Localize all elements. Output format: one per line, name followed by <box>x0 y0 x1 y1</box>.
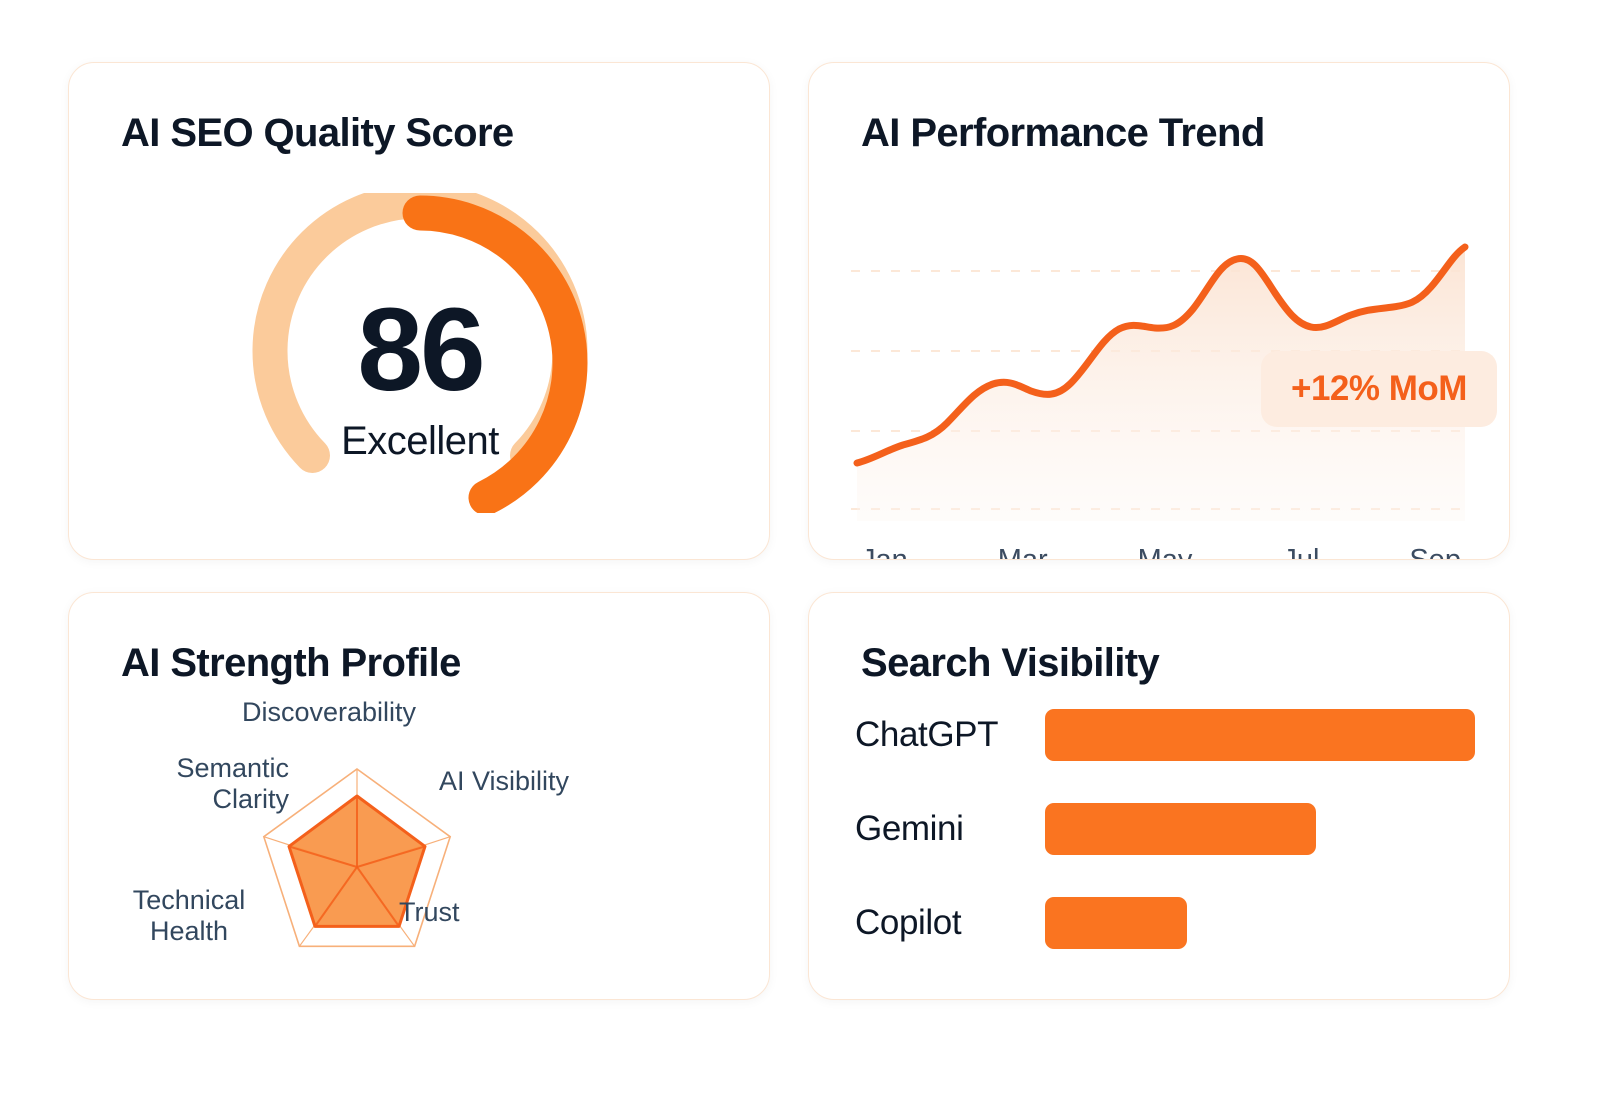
gauge-rating-label: Excellent <box>69 419 770 464</box>
x-tick-label-1: Mar <box>998 544 1048 561</box>
radar-label-technical-health: Technical Health <box>89 885 289 948</box>
card-ai-performance-trend: AI Performance Trend <box>808 62 1510 560</box>
bar-chart: ChatGPT Gemini Copilot <box>855 709 1475 991</box>
card-ai-seo-quality-score: AI SEO Quality Score 86 Excellent <box>68 62 770 560</box>
card-ai-strength-profile: AI Strength Profile <box>68 592 770 1000</box>
page-title-quality: AI SEO Quality Score <box>121 111 514 156</box>
bar-fill-chatgpt <box>1045 709 1475 761</box>
bar-label-copilot: Copilot <box>855 903 1045 943</box>
x-tick-label-2: May <box>1138 544 1193 561</box>
radar-label-discoverability: Discoverability <box>179 697 479 728</box>
bar-row-chatgpt: ChatGPT <box>855 709 1475 761</box>
bar-label-chatgpt: ChatGPT <box>855 715 1045 755</box>
x-tick-label-0: Jan <box>861 544 908 561</box>
status-badge-mom: +12% MoM <box>1261 351 1497 427</box>
bar-track-chatgpt <box>1045 709 1475 761</box>
bar-track-gemini <box>1045 803 1475 855</box>
bar-fill-copilot <box>1045 897 1187 949</box>
bar-track-copilot <box>1045 897 1475 949</box>
gauge-score-value: 86 <box>69 291 770 409</box>
radar-label-semantic-clarity: Semantic Clarity <box>79 753 289 816</box>
chart-x-axis: Jan Mar May Jul Sep <box>851 535 1471 560</box>
page-title-trend: AI Performance Trend <box>861 111 1265 156</box>
dashboard-grid: AI SEO Quality Score 86 Excellent AI Per… <box>68 62 1510 1000</box>
x-tick-label-4: Sep <box>1409 544 1461 561</box>
bar-label-gemini: Gemini <box>855 809 1045 849</box>
bar-row-copilot: Copilot <box>855 897 1475 949</box>
radar-label-trust: Trust <box>399 897 579 928</box>
card-search-visibility: Search Visibility ChatGPT Gemini Copilot <box>808 592 1510 1000</box>
gauge-chart: 86 Excellent <box>69 193 770 533</box>
bar-fill-gemini <box>1045 803 1316 855</box>
dashboard-root: AI SEO Quality Score 86 Excellent AI Per… <box>0 0 1616 1104</box>
x-tick-label-3: Jul <box>1282 544 1319 561</box>
radar-chart: Discoverability AI Visibility Trust Tech… <box>69 667 770 1000</box>
page-title-visibility: Search Visibility <box>861 641 1159 686</box>
bar-row-gemini: Gemini <box>855 803 1475 855</box>
radar-label-ai-visibility: AI Visibility <box>439 766 689 797</box>
